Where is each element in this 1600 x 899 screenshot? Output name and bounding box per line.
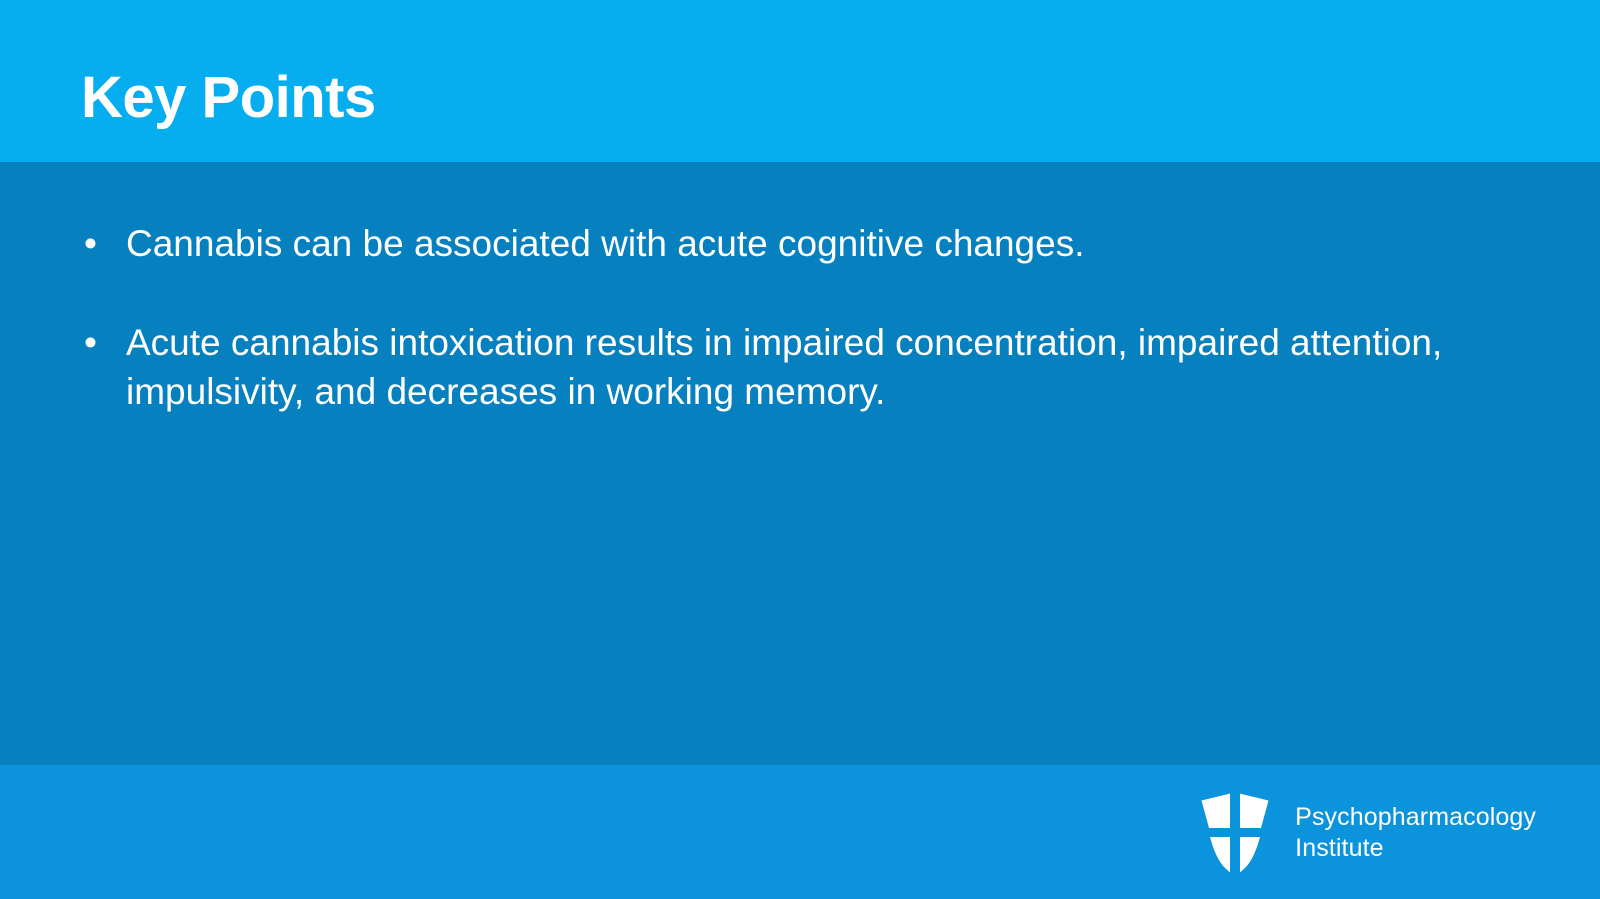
brand-name: Psychopharmacology Institute [1295, 802, 1536, 865]
list-item-text: Acute cannabis intoxication results in i… [126, 318, 1518, 416]
brand-name-line-2: Institute [1295, 833, 1536, 865]
list-item: • Acute cannabis intoxication results in… [78, 318, 1518, 416]
bullet-marker-icon: • [84, 219, 104, 268]
bullet-marker-icon: • [84, 318, 104, 367]
brand-name-line-1: Psychopharmacology [1295, 802, 1536, 834]
slide-footer-band: Psychopharmacology Institute [0, 765, 1600, 899]
key-points-list: • Cannabis can be associated with acute … [78, 219, 1518, 417]
brand-lockup: Psychopharmacology Institute [1197, 789, 1536, 877]
slide-body: • Cannabis can be associated with acute … [0, 162, 1600, 765]
list-item: • Cannabis can be associated with acute … [78, 219, 1518, 268]
page-title: Key Points [81, 68, 376, 129]
presentation-slide: Key Points • Cannabis can be associated … [0, 0, 1600, 899]
slide-header-band: Key Points [0, 0, 1600, 162]
shield-quartered-icon [1197, 789, 1273, 877]
list-item-text: Cannabis can be associated with acute co… [126, 219, 1518, 268]
